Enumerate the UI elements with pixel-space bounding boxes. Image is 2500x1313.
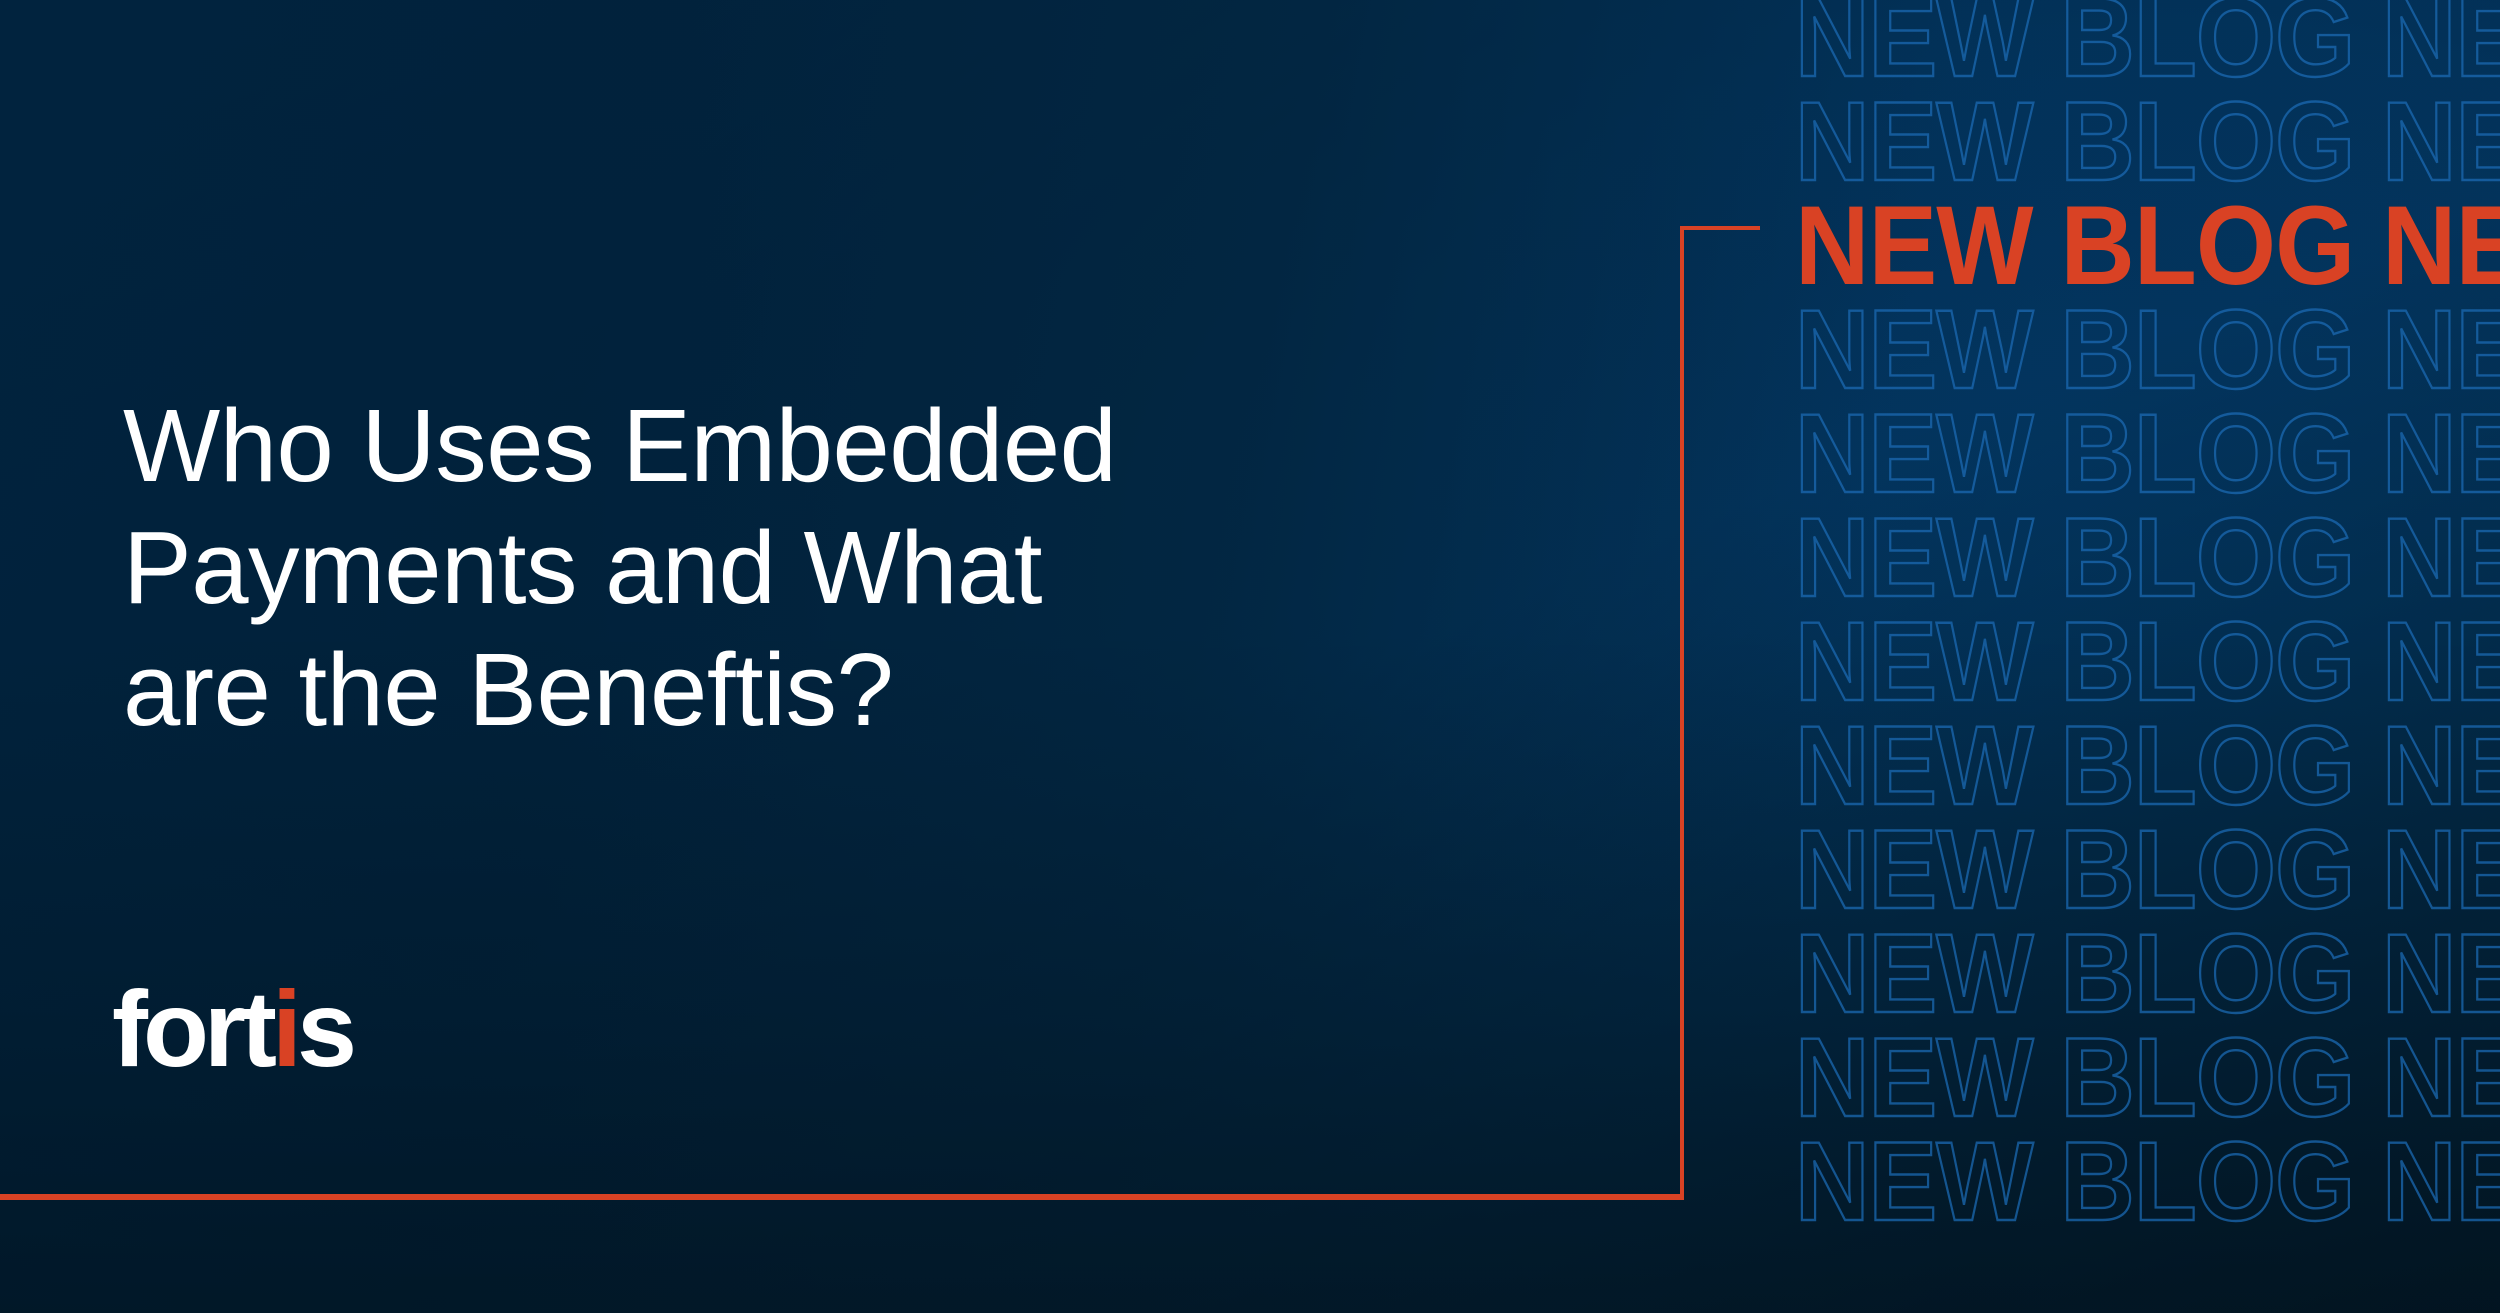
- blog-promo-card: NEW BLOG NEW BLOGNEW BLOG NEW BLOGNEW BL…: [0, 0, 2500, 1313]
- logo-accent-letter: i: [272, 968, 297, 1089]
- pattern-row: NEW BLOG NEW BLOG: [1795, 298, 2500, 402]
- pattern-row: NEW BLOG NEW BLOG: [1795, 1130, 2500, 1234]
- accent-rule-bottom: [0, 1194, 1684, 1200]
- fortis-logo: fortis: [112, 975, 352, 1083]
- logo-prefix: fort: [112, 968, 272, 1089]
- pattern-row: NEW BLOG NEW BLOG: [1795, 818, 2500, 922]
- pattern-row: NEW BLOG NEW BLOG: [1795, 1026, 2500, 1130]
- pattern-row: NEW BLOG NEW BLOG: [1795, 90, 2500, 194]
- headline-line-2: Payments and What: [123, 507, 1603, 629]
- new-blog-pattern: NEW BLOG NEW BLOGNEW BLOG NEW BLOGNEW BL…: [1795, 0, 2500, 1313]
- headline-line-3: are the Beneftis?: [123, 629, 1603, 751]
- new-blog-badge: NEW BLOG NEW BLOG: [1795, 194, 2500, 298]
- pattern-row: NEW BLOG NEW BLOG: [1795, 922, 2500, 1026]
- pattern-row: NEW BLOG NEW BLOG: [1795, 0, 2500, 90]
- pattern-row: NEW BLOG NEW BLOG: [1795, 506, 2500, 610]
- accent-rule-vertical: [1680, 226, 1684, 1198]
- pattern-row: NEW BLOG NEW BLOG: [1795, 610, 2500, 714]
- headline-line-1: Who Uses Embedded: [123, 385, 1603, 507]
- accent-rule-top-stub: [1680, 226, 1760, 230]
- pattern-row: NEW BLOG NEW BLOG: [1795, 402, 2500, 506]
- logo-suffix: s: [297, 968, 352, 1089]
- page-title: Who Uses Embedded Payments and What are …: [123, 385, 1603, 751]
- pattern-row: NEW BLOG NEW BLOG: [1795, 714, 2500, 818]
